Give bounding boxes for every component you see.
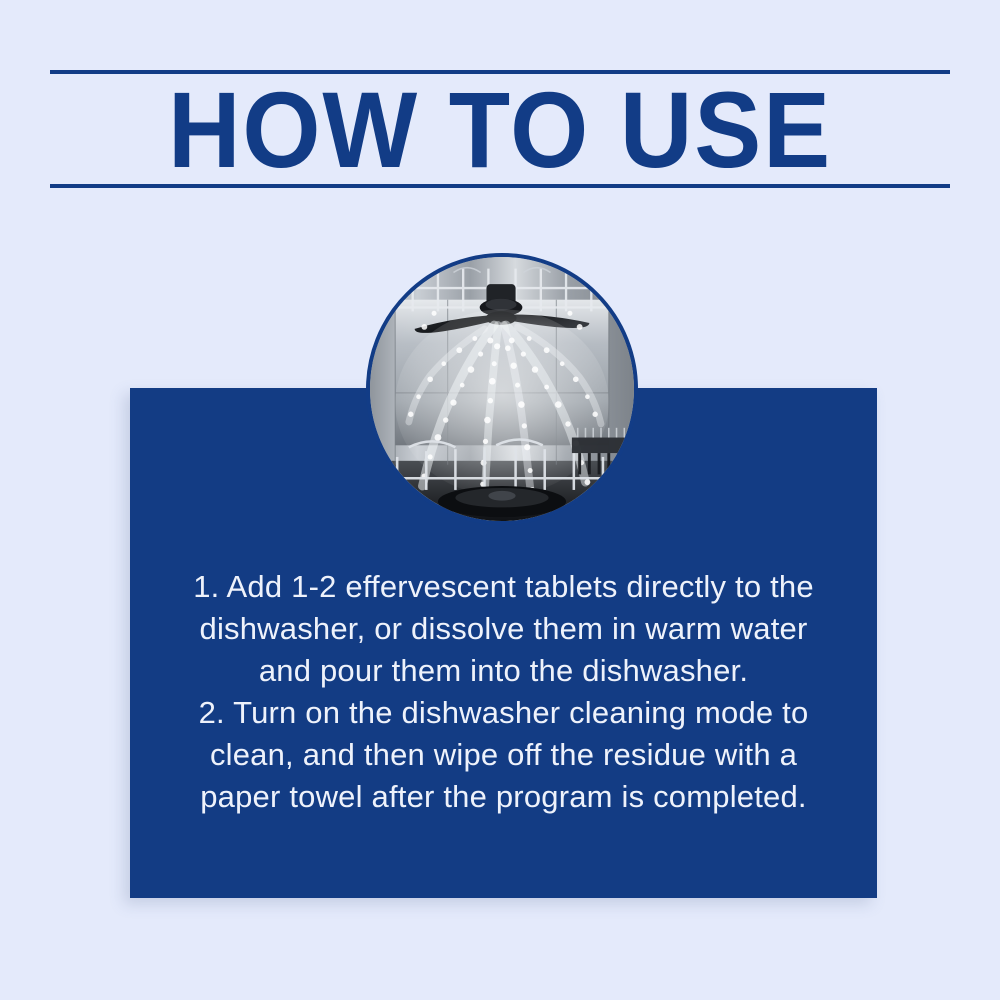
dishwasher-interior-image <box>370 257 634 521</box>
header-rule-bottom <box>50 184 950 188</box>
dishwasher-interior-illustration <box>370 257 634 521</box>
instruction-step-2: 2. Turn on the dishwasher cleaning mode … <box>170 692 837 818</box>
instructions-text: 1. Add 1-2 effervescent tablets directly… <box>170 566 837 818</box>
header: HOW TO USE <box>50 70 950 188</box>
page-title: HOW TO USE <box>82 76 919 184</box>
dishwasher-photo-circle <box>366 253 638 525</box>
how-to-use-poster: HOW TO USE 1. Add 1-2 effervescent table… <box>0 0 1000 1000</box>
instruction-step-1: 1. Add 1-2 effervescent tablets directly… <box>170 566 837 692</box>
